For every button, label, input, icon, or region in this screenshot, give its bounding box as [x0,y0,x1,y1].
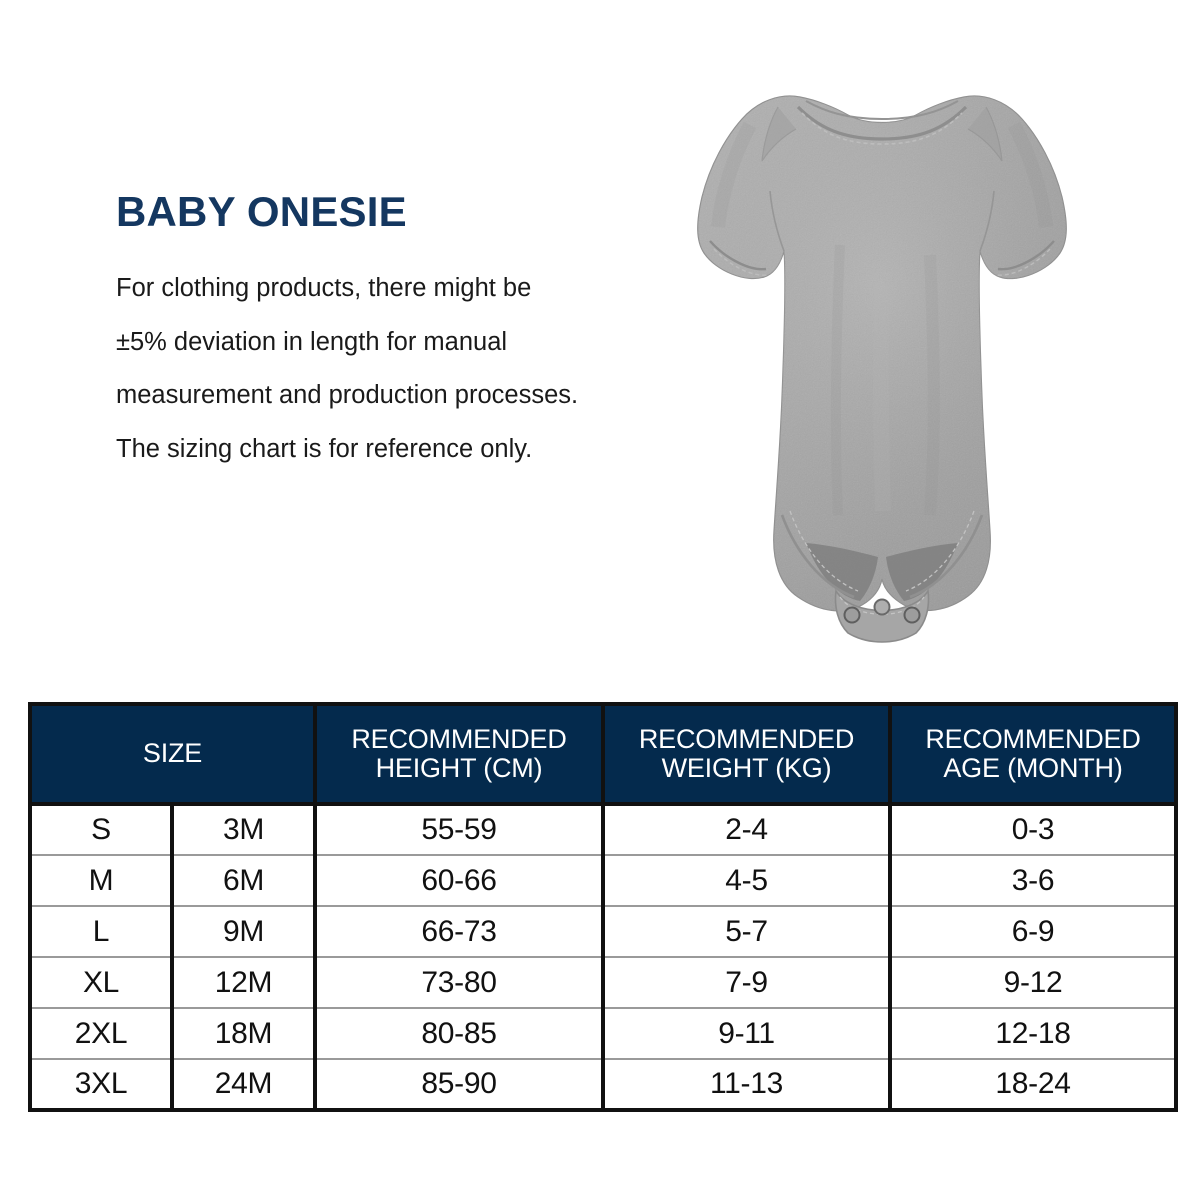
cell-weight: 5-7 [603,906,890,957]
cell-age: 9-12 [890,957,1176,1008]
cell-age: 12-18 [890,1008,1176,1059]
cell-size: XL [30,957,172,1008]
cell-size-age-code: 9M [172,906,315,957]
cell-size-age-code: 12M [172,957,315,1008]
onesie-body [630,45,1130,675]
header-age-line-1: RECOMMENDED [925,724,1140,754]
cell-age: 18-24 [890,1059,1176,1110]
cell-age: 6-9 [890,906,1176,957]
cell-height: 73-80 [315,957,603,1008]
cell-weight: 2-4 [603,804,890,855]
cell-size-age-code: 3M [172,804,315,855]
header-weight-line-2: WEIGHT (KG) [662,753,832,783]
page-title: BABY ONESIE [116,190,676,234]
table-header: SIZE RECOMMENDED HEIGHT (CM) RECOMMENDED… [30,704,1176,804]
description-line-3: measurement and production processes. [116,383,676,409]
header-size: SIZE [30,704,315,804]
cell-height: 66-73 [315,906,603,957]
cell-weight: 4-5 [603,855,890,906]
cell-weight: 11-13 [603,1059,890,1110]
description-line-1: For clothing products, there might be [116,276,676,302]
header-weight-line-1: RECOMMENDED [639,724,854,754]
header-weight: RECOMMENDED WEIGHT (KG) [603,704,890,804]
table-body: S 3M 55-59 2-4 0-3 M 6M 60-66 4-5 3-6 L … [30,804,1176,1110]
size-chart-page: BABY ONESIE For clothing products, there… [0,0,1200,1200]
baby-onesie-photo [630,45,1130,675]
cell-height: 55-59 [315,804,603,855]
table-header-row: SIZE RECOMMENDED HEIGHT (CM) RECOMMENDED… [30,704,1176,804]
cell-weight: 9-11 [603,1008,890,1059]
cell-size: S [30,804,172,855]
cell-age: 0-3 [890,804,1176,855]
size-chart-table: SIZE RECOMMENDED HEIGHT (CM) RECOMMENDED… [28,702,1178,1112]
description-line-4: The sizing chart is for reference only. [116,437,676,463]
cell-height: 85-90 [315,1059,603,1110]
cell-size: L [30,906,172,957]
cell-height: 60-66 [315,855,603,906]
table-row: 3XL 24M 85-90 11-13 18-24 [30,1059,1176,1110]
cell-size: 3XL [30,1059,172,1110]
cell-size-age-code: 24M [172,1059,315,1110]
description-line-2: ±5% deviation in length for manual [116,330,676,356]
cell-age: 3-6 [890,855,1176,906]
table-row: 2XL 18M 80-85 9-11 12-18 [30,1008,1176,1059]
table-row: M 6M 60-66 4-5 3-6 [30,855,1176,906]
header-age-line-2: AGE (MONTH) [943,753,1122,783]
cell-height: 80-85 [315,1008,603,1059]
cell-size-age-code: 6M [172,855,315,906]
header-height: RECOMMENDED HEIGHT (CM) [315,704,603,804]
header-height-line-1: RECOMMENDED [351,724,566,754]
cell-size-age-code: 18M [172,1008,315,1059]
table-row: XL 12M 73-80 7-9 9-12 [30,957,1176,1008]
description-text: For clothing products, there might be ±5… [116,276,676,462]
table-row: S 3M 55-59 2-4 0-3 [30,804,1176,855]
product-info-block: BABY ONESIE For clothing products, there… [116,190,676,490]
header-height-line-2: HEIGHT (CM) [376,753,543,783]
cell-size: 2XL [30,1008,172,1059]
table-row: L 9M 66-73 5-7 6-9 [30,906,1176,957]
header-age: RECOMMENDED AGE (MONTH) [890,704,1176,804]
cell-weight: 7-9 [603,957,890,1008]
cell-size: M [30,855,172,906]
